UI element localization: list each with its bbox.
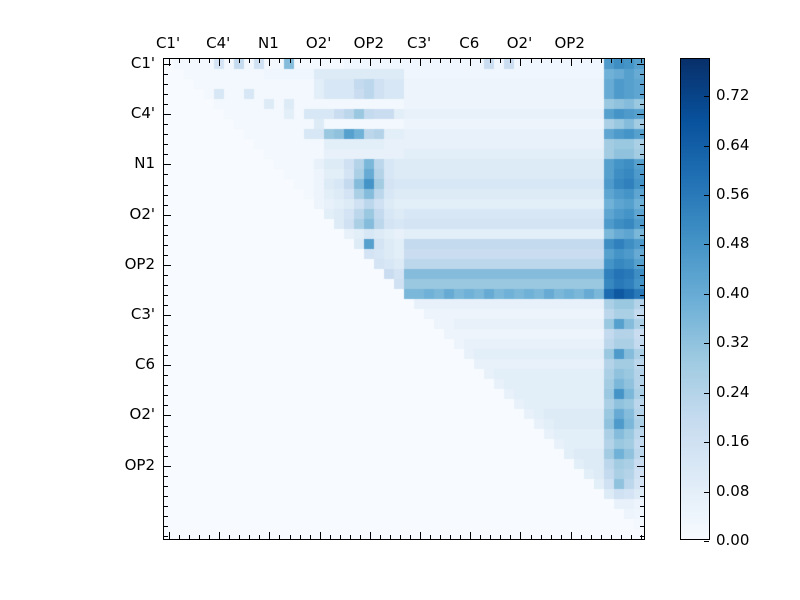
axis-tick-minor (400, 59, 401, 63)
axis-tick-minor (164, 195, 168, 196)
axis-tick-minor (164, 205, 168, 206)
axis-tick-major (637, 315, 644, 316)
colorbar-tick (704, 244, 709, 245)
axis-tick-minor (640, 255, 644, 256)
colorbar-tick (704, 146, 709, 147)
axis-tick-minor (249, 59, 250, 63)
axis-tick-minor (640, 174, 644, 175)
x-tick-label: C6 (459, 34, 479, 52)
axis-tick-minor (164, 104, 168, 105)
figure-canvas: C1'C4'N1O2'OP2C3'C6O2'OP2 C1'C4'N1O2'OP2… (0, 0, 800, 600)
axis-tick-minor (209, 59, 210, 63)
axis-tick-minor (640, 345, 644, 346)
axis-tick-minor (310, 535, 311, 539)
axis-tick-minor (164, 325, 168, 326)
y-tick-label: OP2 (125, 255, 155, 273)
axis-tick-minor (390, 535, 391, 539)
axis-tick-major (320, 59, 321, 66)
axis-tick-major (320, 532, 321, 539)
axis-tick-minor (640, 74, 644, 75)
x-tick-label: OP2 (354, 34, 384, 52)
axis-tick-minor (400, 535, 401, 539)
axis-tick-minor (350, 535, 351, 539)
colorbar-tick (704, 195, 709, 196)
axis-tick-minor (164, 446, 168, 447)
axis-tick-minor (259, 59, 260, 63)
heatmap-axes[interactable] (163, 58, 645, 540)
colorbar-tick-label: 0.40 (716, 284, 749, 302)
axis-tick-minor (541, 59, 542, 63)
axis-tick-minor (164, 456, 168, 457)
axis-tick-minor (179, 535, 180, 539)
axis-tick-major (164, 466, 171, 467)
axis-tick-minor (239, 535, 240, 539)
axis-tick-minor (164, 405, 168, 406)
axis-tick-major (637, 215, 644, 216)
axis-tick-minor (164, 154, 168, 155)
y-tick-label: C6 (135, 355, 155, 373)
axis-tick-minor (561, 535, 562, 539)
axis-tick-minor (640, 506, 644, 507)
axis-tick-minor (640, 436, 644, 437)
axis-tick-minor (611, 59, 612, 63)
axis-tick-major (637, 365, 644, 366)
axis-tick-minor (164, 235, 168, 236)
axis-tick-minor (480, 535, 481, 539)
axis-tick-minor (640, 426, 644, 427)
axis-tick-minor (164, 285, 168, 286)
axis-tick-minor (390, 59, 391, 63)
x-tick-label: N1 (258, 34, 279, 52)
axis-tick-minor (631, 59, 632, 63)
colorbar-tick-label: 0.16 (716, 432, 749, 450)
axis-tick-minor (640, 134, 644, 135)
colorbar-axes[interactable] (680, 58, 710, 540)
axis-tick-major (269, 532, 270, 539)
axis-tick-major (637, 466, 644, 467)
axis-tick-minor (290, 59, 291, 63)
axis-tick-minor (460, 59, 461, 63)
axis-tick-minor (640, 355, 644, 356)
colorbar-tick (704, 96, 709, 97)
axis-tick-minor (640, 225, 644, 226)
axis-tick-major (169, 532, 170, 539)
axis-tick-major (637, 415, 644, 416)
axis-tick-minor (164, 476, 168, 477)
axis-tick-minor (410, 59, 411, 63)
y-tick-label: O2' (130, 205, 155, 223)
axis-tick-minor (640, 325, 644, 326)
axis-tick-minor (410, 535, 411, 539)
axis-tick-minor (330, 535, 331, 539)
axis-tick-minor (164, 516, 168, 517)
axis-tick-minor (640, 536, 644, 537)
axis-tick-minor (164, 506, 168, 507)
axis-tick-minor (300, 535, 301, 539)
axis-tick-minor (164, 355, 168, 356)
axis-tick-minor (229, 535, 230, 539)
axis-tick-minor (239, 59, 240, 63)
axis-tick-minor (510, 59, 511, 63)
y-tick-label: C1' (131, 54, 155, 72)
axis-tick-minor (164, 426, 168, 427)
axis-tick-major (420, 59, 421, 66)
colorbar-tick (704, 393, 709, 394)
axis-tick-minor (581, 535, 582, 539)
axis-tick-minor (279, 59, 280, 63)
axis-tick-minor (640, 94, 644, 95)
axis-tick-minor (164, 174, 168, 175)
axis-tick-minor (591, 59, 592, 63)
axis-tick-minor (164, 74, 168, 75)
axis-tick-minor (164, 225, 168, 226)
axis-tick-minor (591, 535, 592, 539)
axis-tick-major (571, 59, 572, 66)
axis-tick-major (164, 415, 171, 416)
axis-tick-minor (640, 245, 644, 246)
axis-tick-minor (640, 84, 644, 85)
axis-tick-major (164, 164, 171, 165)
x-tick-label: O2' (306, 34, 331, 52)
axis-tick-minor (310, 59, 311, 63)
axis-tick-minor (279, 535, 280, 539)
axis-tick-minor (340, 59, 341, 63)
axis-tick-minor (581, 59, 582, 63)
axis-tick-minor (641, 59, 642, 63)
y-tick-label: N1 (134, 154, 155, 172)
y-tick-label: OP2 (125, 456, 155, 474)
axis-tick-major (470, 532, 471, 539)
colorbar-tick-label: 0.08 (716, 482, 749, 500)
axis-tick-minor (330, 59, 331, 63)
axis-tick-minor (640, 275, 644, 276)
axis-tick-major (637, 114, 644, 115)
colorbar-tick-label: 0.72 (716, 86, 749, 104)
axis-tick-minor (490, 535, 491, 539)
axis-tick-minor (380, 59, 381, 63)
axis-tick-minor (360, 535, 361, 539)
x-tick-label: C4' (206, 34, 230, 52)
axis-tick-minor (229, 59, 230, 63)
axis-tick-minor (640, 205, 644, 206)
axis-tick-minor (164, 526, 168, 527)
axis-tick-minor (640, 486, 644, 487)
axis-tick-major (164, 265, 171, 266)
axis-tick-minor (164, 345, 168, 346)
axis-tick-minor (640, 516, 644, 517)
axis-tick-minor (340, 535, 341, 539)
x-tick-label: C3' (407, 34, 431, 52)
axis-tick-minor (551, 59, 552, 63)
axis-tick-major (637, 64, 644, 65)
axis-tick-major (520, 59, 521, 66)
axis-tick-minor (500, 535, 501, 539)
colorbar-tick (704, 343, 709, 344)
axis-tick-minor (611, 535, 612, 539)
axis-tick-minor (164, 124, 168, 125)
axis-tick-minor (440, 59, 441, 63)
axis-tick-minor (249, 535, 250, 539)
axis-tick-minor (640, 104, 644, 105)
axis-tick-minor (300, 59, 301, 63)
axis-tick-minor (430, 59, 431, 63)
axis-tick-minor (640, 185, 644, 186)
axis-tick-minor (640, 305, 644, 306)
axis-tick-minor (164, 255, 168, 256)
colorbar-tick-label: 0.64 (716, 136, 749, 154)
axis-tick-minor (640, 405, 644, 406)
axis-tick-minor (199, 59, 200, 63)
axis-tick-minor (164, 84, 168, 85)
axis-tick-minor (480, 59, 481, 63)
axis-tick-minor (209, 535, 210, 539)
axis-tick-minor (640, 124, 644, 125)
x-tick-label: O2' (507, 34, 532, 52)
axis-tick-minor (199, 535, 200, 539)
axis-tick-minor (541, 535, 542, 539)
x-tick-label: OP2 (554, 34, 584, 52)
axis-tick-minor (164, 436, 168, 437)
axis-tick-minor (164, 496, 168, 497)
axis-tick-minor (640, 154, 644, 155)
axis-tick-minor (640, 235, 644, 236)
axis-tick-minor (490, 59, 491, 63)
colorbar-tick-label: 0.24 (716, 383, 749, 401)
axis-tick-minor (350, 59, 351, 63)
axis-tick-minor (531, 535, 532, 539)
colorbar-tick-label: 0.56 (716, 185, 749, 203)
colorbar-tick (704, 294, 709, 295)
axis-tick-minor (640, 395, 644, 396)
axis-tick-minor (500, 59, 501, 63)
colorbar-tick (704, 442, 709, 443)
axis-tick-minor (360, 59, 361, 63)
axis-tick-minor (640, 295, 644, 296)
axis-tick-minor (640, 496, 644, 497)
axis-tick-minor (164, 305, 168, 306)
axis-tick-minor (561, 59, 562, 63)
axis-tick-minor (179, 59, 180, 63)
colorbar-tick (704, 492, 709, 493)
axis-tick-major (164, 114, 171, 115)
axis-tick-minor (164, 536, 168, 537)
colorbar-tick (704, 541, 709, 542)
axis-tick-major (571, 532, 572, 539)
axis-tick-minor (164, 486, 168, 487)
axis-tick-minor (440, 535, 441, 539)
axis-tick-minor (164, 395, 168, 396)
axis-tick-minor (551, 535, 552, 539)
axis-tick-major (370, 532, 371, 539)
axis-tick-major (164, 215, 171, 216)
axis-tick-minor (510, 535, 511, 539)
axis-tick-major (164, 64, 171, 65)
axis-tick-minor (450, 535, 451, 539)
axis-tick-minor (640, 456, 644, 457)
axis-tick-minor (290, 535, 291, 539)
axis-tick-major (420, 532, 421, 539)
axis-tick-major (637, 164, 644, 165)
heatmap-image (164, 59, 644, 539)
colorbar-gradient (681, 59, 709, 539)
axis-tick-minor (450, 59, 451, 63)
axis-tick-minor (640, 285, 644, 286)
axis-tick-minor (189, 59, 190, 63)
axis-tick-major (164, 365, 171, 366)
axis-tick-major (219, 59, 220, 66)
axis-tick-minor (189, 535, 190, 539)
axis-tick-minor (164, 275, 168, 276)
axis-tick-minor (460, 535, 461, 539)
axis-tick-minor (164, 94, 168, 95)
y-tick-label: O2' (130, 405, 155, 423)
axis-tick-major (520, 532, 521, 539)
axis-tick-minor (640, 195, 644, 196)
y-tick-label: C4' (131, 104, 155, 122)
axis-tick-minor (164, 245, 168, 246)
axis-tick-minor (640, 526, 644, 527)
colorbar-tick-label: 0.32 (716, 333, 749, 351)
axis-tick-minor (531, 59, 532, 63)
axis-tick-minor (601, 59, 602, 63)
axis-tick-minor (380, 535, 381, 539)
axis-tick-minor (631, 535, 632, 539)
axis-tick-major (269, 59, 270, 66)
axis-tick-minor (621, 59, 622, 63)
axis-tick-minor (640, 144, 644, 145)
y-tick-label: C3' (131, 305, 155, 323)
axis-tick-minor (621, 535, 622, 539)
colorbar-tick-label: 0.00 (716, 531, 749, 549)
axis-tick-minor (164, 185, 168, 186)
axis-tick-minor (640, 476, 644, 477)
axis-tick-minor (640, 335, 644, 336)
axis-tick-minor (259, 535, 260, 539)
axis-tick-minor (164, 335, 168, 336)
axis-tick-minor (640, 375, 644, 376)
axis-tick-major (370, 59, 371, 66)
axis-tick-major (219, 532, 220, 539)
axis-tick-minor (164, 134, 168, 135)
axis-tick-minor (164, 144, 168, 145)
x-tick-label: C1' (156, 34, 180, 52)
axis-tick-major (470, 59, 471, 66)
axis-tick-minor (640, 385, 644, 386)
axis-tick-minor (640, 446, 644, 447)
axis-tick-minor (164, 295, 168, 296)
axis-tick-minor (164, 375, 168, 376)
axis-tick-major (164, 315, 171, 316)
colorbar-tick-label: 0.48 (716, 234, 749, 252)
axis-tick-minor (601, 535, 602, 539)
axis-tick-major (637, 265, 644, 266)
axis-tick-minor (430, 535, 431, 539)
axis-tick-minor (164, 385, 168, 386)
